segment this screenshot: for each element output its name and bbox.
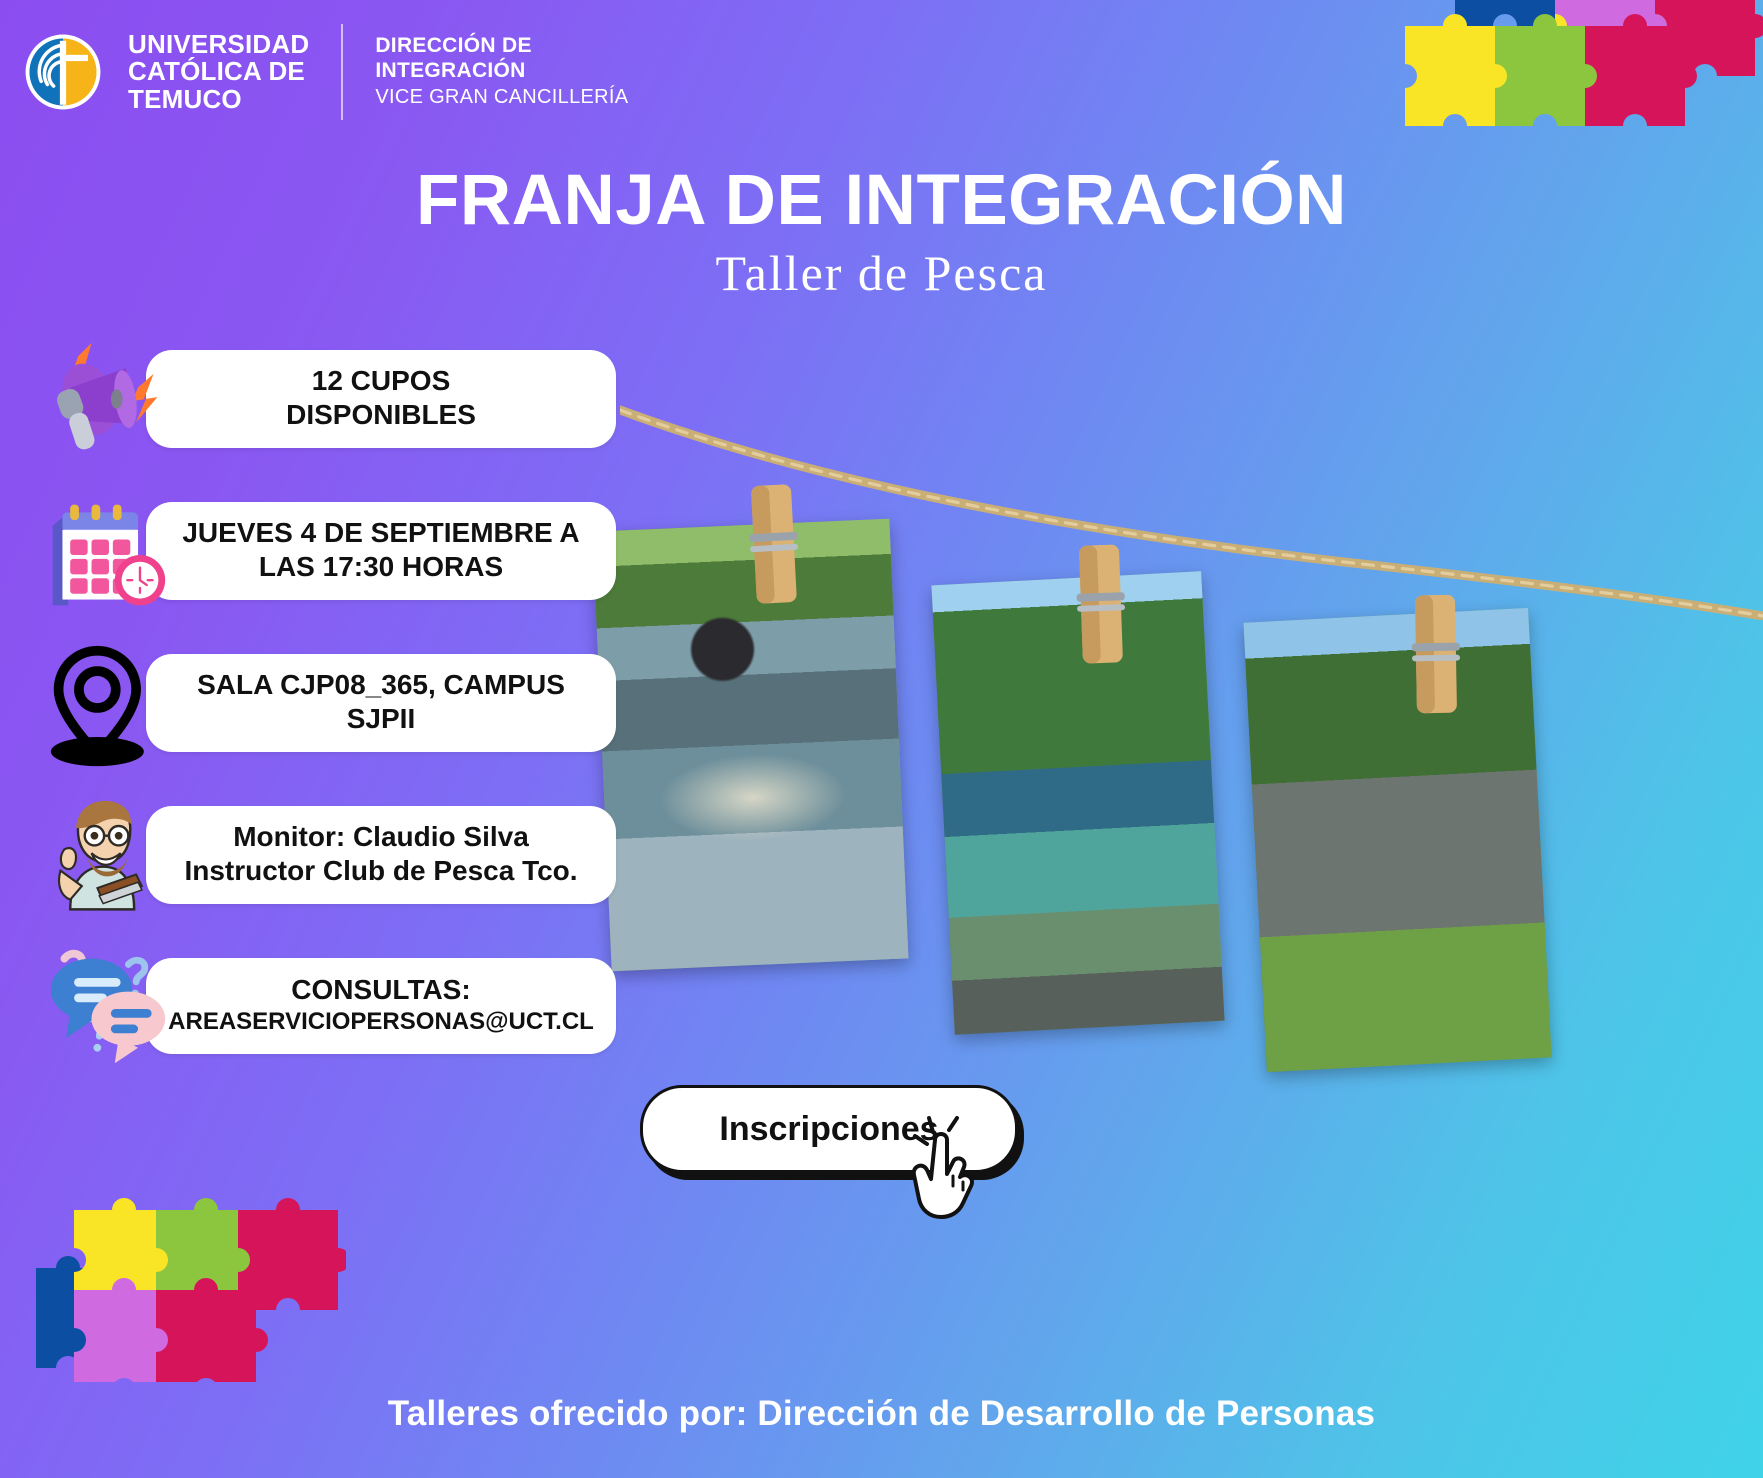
info-row-sala: SALA CJP08_365, CAMPUS SJPII	[34, 644, 654, 768]
info-line2: DISPONIBLES	[286, 398, 476, 432]
pill-cupos: 12 CUPOS DISPONIBLES	[146, 350, 616, 448]
department-line1: DIRECCIÓN DE INTEGRACIÓN	[375, 34, 628, 84]
puzzle-pieces-bottom-left-icon	[36, 1192, 346, 1382]
location-pin-icon	[34, 644, 182, 768]
info-line1: CONSULTAS:	[291, 973, 470, 1007]
pill-accent-bar	[164, 1042, 632, 1068]
instructor-icon	[34, 796, 182, 920]
department-block: DIRECCIÓN DE INTEGRACIÓN VICE GRAN CANCI…	[375, 34, 628, 110]
info-line1: SALA CJP08_365, CAMPUS	[197, 668, 565, 702]
pill-monitor: Monitor: Claudio Silva Instructor Club d…	[146, 806, 616, 904]
photo-group-anglers	[1243, 608, 1551, 1072]
info-list: 12 CUPOS DISPONIBLES	[34, 340, 654, 1100]
calendar-clock-icon	[34, 492, 182, 616]
info-row-monitor: Monitor: Claudio Silva Instructor Club d…	[34, 796, 654, 920]
info-row-consultas: CONSULTAS: AREASERVICIOPERSONAS@UCT.CL	[34, 948, 654, 1072]
puzzle-pieces-top-right-icon	[1343, 0, 1763, 186]
pill-accent-bar	[164, 892, 632, 918]
pill-accent-bar	[164, 740, 632, 766]
pill-consultas: CONSULTAS: AREASERVICIOPERSONAS@UCT.CL	[146, 958, 616, 1054]
info-line1: 12 CUPOS	[312, 364, 451, 398]
university-name: UNIVERSIDAD CATÓLICA DE TEMUCO	[128, 31, 309, 114]
pill-fecha: JUEVES 4 DE SEPTIEMBRE A LAS 17:30 HORAS	[146, 502, 616, 600]
info-line2: AREASERVICIOPERSONAS@UCT.CL	[168, 1007, 594, 1036]
poster-canvas: UNIVERSIDAD CATÓLICA DE TEMUCO DIRECCIÓN…	[0, 0, 1763, 1478]
pill-accent-bar	[164, 588, 632, 614]
poster-header: UNIVERSIDAD CATÓLICA DE TEMUCO DIRECCIÓN…	[24, 24, 628, 120]
info-line2: Instructor Club de Pesca Tco.	[184, 854, 577, 888]
department-line2: VICE GRAN CANCILLERÍA	[375, 86, 628, 110]
clothespin-icon	[1409, 595, 1463, 718]
pill-accent-bar	[164, 436, 632, 462]
poster-subtitle: Taller de Pesca	[0, 244, 1763, 302]
clothespin-icon	[745, 484, 803, 609]
clothespin-icon	[1073, 544, 1129, 668]
info-line2: LAS 17:30 HORAS	[259, 550, 503, 584]
info-row-cupos: 12 CUPOS DISPONIBLES	[34, 340, 654, 464]
footer-text: Talleres ofrecido por: Dirección de Desa…	[0, 1394, 1763, 1434]
header-divider	[341, 24, 343, 120]
click-hand-cursor-icon	[905, 1110, 995, 1220]
clothesline-photo-gallery	[620, 330, 1763, 1160]
info-row-fecha: JUEVES 4 DE SEPTIEMBRE A LAS 17:30 HORAS	[34, 492, 654, 616]
info-line2: SJPII	[347, 702, 415, 736]
pill-sala: SALA CJP08_365, CAMPUS SJPII	[146, 654, 616, 752]
speech-bubbles-icon	[34, 948, 182, 1072]
uct-shield-logo-icon	[24, 33, 102, 111]
info-line1: JUEVES 4 DE SEPTIEMBRE A	[182, 516, 579, 550]
poster-title: FRANJA DE INTEGRACIÓN	[0, 160, 1763, 241]
info-line1: Monitor: Claudio Silva	[233, 820, 529, 854]
megaphone-icon	[34, 340, 182, 464]
